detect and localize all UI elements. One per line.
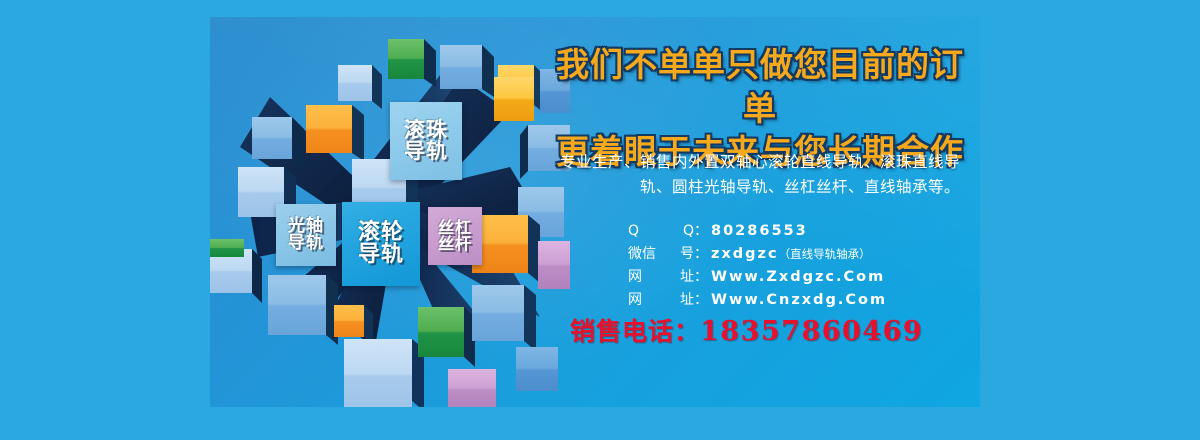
- contact-row-wechat[interactable]: 微信 号 ： zxdgzc （直线导轨轴承）: [628, 243, 958, 266]
- sales-phone-label: 销售电话：: [570, 317, 700, 346]
- contact-colon: ：: [694, 243, 708, 265]
- contact-value-wechat: zxdgzc: [711, 243, 779, 266]
- contact-block: Q Q ： 80286553 微信 号 ： zxdgzc （直线导轨轴承）: [628, 220, 958, 312]
- tile-optical-shaft-guide[interactable]: 光轴 导轨: [276, 204, 336, 266]
- contact-row-qq[interactable]: Q Q ： 80286553: [628, 220, 958, 243]
- tile-line2: 导轨: [404, 141, 448, 162]
- contact-row-website-1[interactable]: 网 址 ： Www.Zxdgzc.Com: [628, 266, 958, 289]
- contact-row-website-2[interactable]: 网 址 ： Www.Cnzxdg.Com: [628, 289, 958, 312]
- promo-banner: 滚珠 导轨 光轴 导轨 滚轮 导轨 丝杠 丝杆 我们不单单只做您目前的订单 更着…: [210, 17, 980, 407]
- contact-label-qq: Q Q: [628, 220, 694, 242]
- tile-line2: 导轨: [288, 235, 324, 252]
- page-canvas: 滚珠 导轨 光轴 导轨 滚轮 导轨 丝杠 丝杆 我们不单单只做您目前的订单 更着…: [0, 0, 1200, 440]
- contact-colon: ：: [694, 266, 708, 288]
- contact-label-wechat: 微信 号: [628, 243, 694, 265]
- tile-line1: 滚珠: [404, 120, 448, 141]
- contact-value-qq: 80286553: [711, 220, 808, 243]
- tile-line2: 导轨: [358, 244, 404, 266]
- contact-label-website-2: 网 址: [628, 289, 694, 311]
- contact-label-website-1: 网 址: [628, 266, 694, 288]
- description-text: 专业生产、销售内外置双轴心滚轮直线导轨、滚珠直线导轨、圆柱光轴导轨、丝杠丝杆、直…: [550, 150, 960, 200]
- tile-roller-guide[interactable]: 滚轮 导轨: [342, 202, 420, 286]
- tile-ball-guide[interactable]: 滚珠 导轨: [390, 102, 462, 180]
- contact-value-website-2: Www.Cnzxdg.Com: [711, 289, 887, 312]
- contact-colon: ：: [694, 289, 708, 311]
- tile-line1: 滚轮: [358, 222, 404, 244]
- sales-phone-number: 18357860469: [700, 316, 923, 347]
- contact-value-website-1: Www.Zxdgzc.Com: [711, 266, 885, 289]
- contact-colon: ：: [694, 220, 708, 242]
- contact-note-wechat: （直线导轨轴承）: [779, 245, 871, 263]
- sales-phone[interactable]: 销售电话：18357860469: [570, 312, 970, 348]
- tile-line2: 丝杆: [438, 236, 472, 252]
- tile-lead-screw[interactable]: 丝杠 丝杆: [428, 207, 482, 265]
- banner-content: 我们不单单只做您目前的订单 更着眼于未来与您长期合作 专业生产、销售内外置双轴心…: [540, 17, 980, 407]
- headline-line-1: 我们不单单只做您目前的订单: [556, 45, 964, 128]
